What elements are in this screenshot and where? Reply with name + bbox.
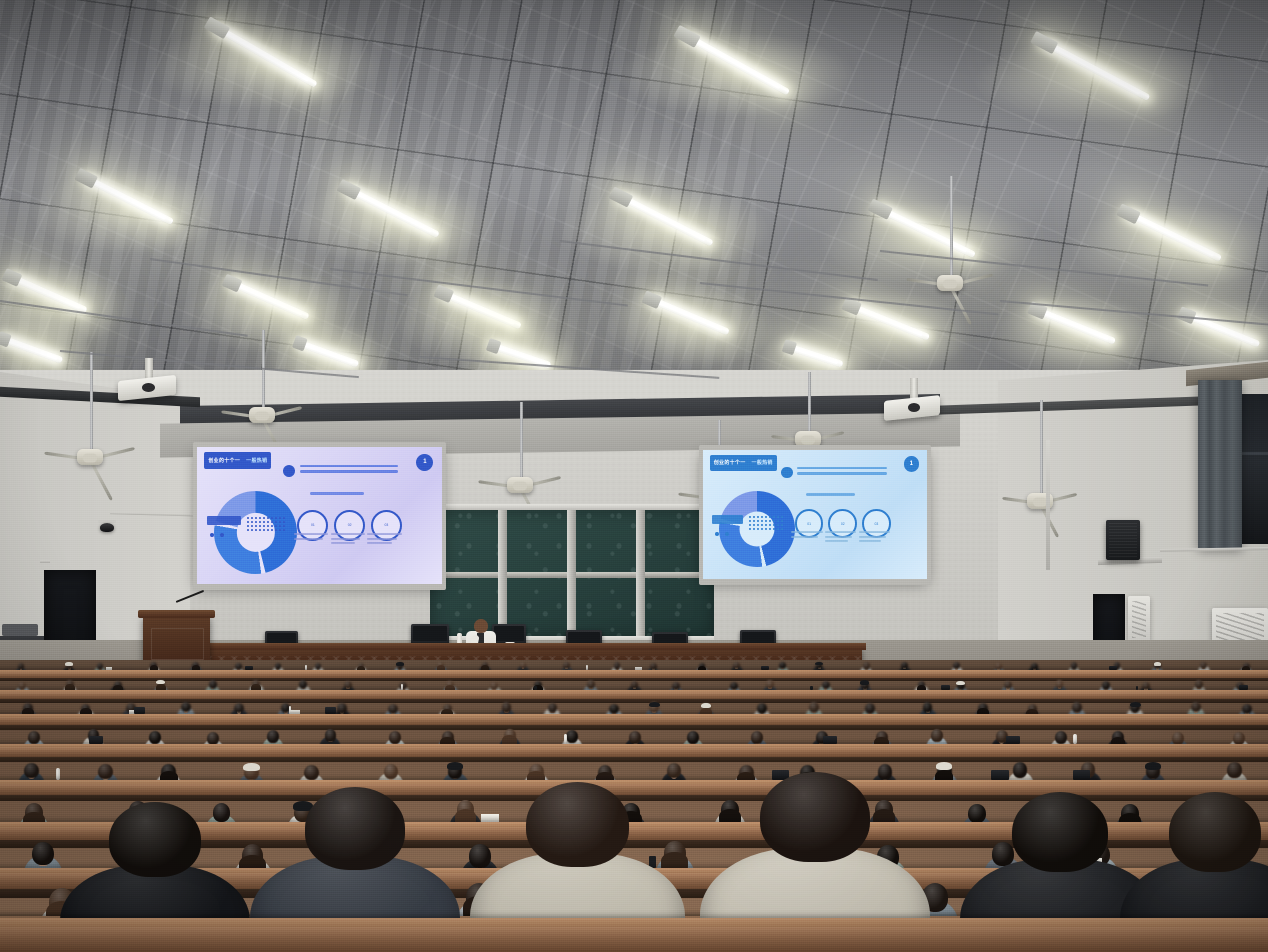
ring-caption-2 (331, 533, 365, 546)
presentation-slide: 创业的十个一一般热销1010203 (197, 447, 442, 584)
shopping-cart-icon (207, 516, 241, 543)
foreground-head (305, 787, 406, 870)
security-camera-icon (100, 523, 114, 532)
fan-motor (513, 482, 527, 491)
slide-question-text (806, 493, 855, 496)
fan-rod (520, 402, 523, 484)
slide-title-tag-2: 一般热销 (752, 459, 773, 466)
left-equipment-lid (2, 624, 38, 636)
caption-line (294, 538, 323, 540)
world-map-icon (246, 516, 285, 532)
slide-title-tag-1: 创业的十个一 (714, 459, 746, 466)
ceiling-fan (476, 476, 564, 494)
shopping-cart-icon (712, 515, 743, 542)
fan-rod (90, 352, 93, 456)
fan-motor (801, 436, 815, 445)
fan-rod (808, 372, 811, 438)
slide-page-badge: 1 (904, 456, 920, 472)
slide-title-bar: 创业的十个一一般热销 (204, 452, 271, 468)
ring-caption-1 (294, 533, 328, 542)
fan-motor (1033, 498, 1047, 507)
presentation-slide: 创业的十个一一般热销1010203 (703, 450, 927, 579)
ac-vent-small-icon (1132, 601, 1146, 638)
foreground-head (1012, 792, 1108, 872)
ring-label: 03 (385, 523, 389, 527)
fan-motor (83, 454, 97, 463)
ceiling-fan (220, 406, 304, 424)
bullet-line (797, 472, 887, 475)
screen-surface: 创业的十个一一般热销1010203 (197, 447, 442, 584)
fan-motor (943, 280, 957, 289)
lecture-hall-photo: 创业的十个一一般热销1010203创业的十个一一般热销1010203 (0, 0, 1268, 952)
bullet-line (300, 470, 398, 473)
caption-line (791, 531, 822, 533)
chalkboard-divider-1 (498, 510, 507, 638)
caption-line (367, 538, 396, 540)
caption-line (859, 531, 890, 533)
ring-caption-3 (859, 531, 890, 544)
presenter-head (474, 619, 488, 633)
window-curtain[interactable] (1198, 380, 1242, 548)
fan-rod (950, 176, 953, 282)
projection-screen-left: 创业的十个一一般热销1010203 (197, 447, 442, 584)
front-bench-top-edge (0, 918, 1268, 927)
slide-title-tag-1: 创业的十个一 (208, 457, 240, 464)
caption-line (825, 531, 856, 533)
foreground-head (526, 782, 629, 867)
wall-speaker (1106, 520, 1140, 560)
ring-caption-1 (791, 531, 822, 540)
caption-line (859, 536, 886, 538)
student-audience (0, 660, 1268, 952)
desk-top-edge (206, 643, 866, 650)
screen-surface: 创业的十个一一般热销1010203 (703, 450, 927, 579)
ring-label: 01 (807, 522, 811, 526)
caption-line (294, 533, 328, 535)
ceiling-fan (904, 274, 995, 292)
caption-line (331, 538, 360, 540)
ring-label: 01 (311, 523, 315, 527)
bullet-dot-icon (283, 465, 295, 477)
wall-bracket-left (40, 560, 50, 563)
front-bench-desk (0, 918, 1268, 952)
caption-line (331, 542, 356, 544)
ring-label: 02 (841, 522, 845, 526)
speaker-grille (1109, 523, 1137, 557)
foreground-head (109, 802, 200, 877)
ring-label: 02 (348, 523, 352, 527)
slide-title-bar: 创业的十个一一般热销 (710, 455, 777, 470)
slide-bullet-text (797, 467, 887, 478)
projector-right (884, 398, 940, 418)
fan-rod (1040, 400, 1043, 500)
foreground-head (760, 772, 870, 862)
slide-question-text (310, 492, 364, 495)
ring-caption-2 (825, 531, 856, 544)
ceiling-fan (1001, 492, 1080, 510)
world-map-icon (748, 515, 784, 530)
bullet-line (797, 467, 887, 470)
caption-line (859, 540, 882, 542)
fan-rod (262, 330, 265, 414)
caption-line (367, 533, 401, 535)
projector-left (118, 378, 176, 398)
caption-line (791, 536, 818, 538)
fan-motor (255, 412, 269, 421)
air-conditioner-small (1128, 596, 1150, 642)
ring-caption-3 (367, 533, 401, 546)
chalkboard-divider-2 (567, 510, 576, 638)
caption-line (331, 533, 365, 535)
bullet-line (300, 465, 398, 468)
slide-bullet-text (300, 465, 398, 476)
caption-line (367, 542, 392, 544)
wall-downpipe-right (1046, 440, 1050, 570)
ring-label: 03 (874, 522, 878, 526)
bullet-dot-icon (781, 467, 792, 478)
caption-line (825, 540, 848, 542)
foreground-head (1169, 792, 1260, 872)
slide-title-tag-2: 一般热销 (246, 457, 267, 464)
projection-screen-right: 创业的十个一一般热销1010203 (703, 450, 927, 579)
caption-line (825, 536, 852, 538)
ceiling-fan (42, 448, 138, 466)
lectern-panel (151, 628, 204, 660)
lectern-top (138, 610, 215, 618)
chalkboard-divider-3 (636, 510, 645, 638)
